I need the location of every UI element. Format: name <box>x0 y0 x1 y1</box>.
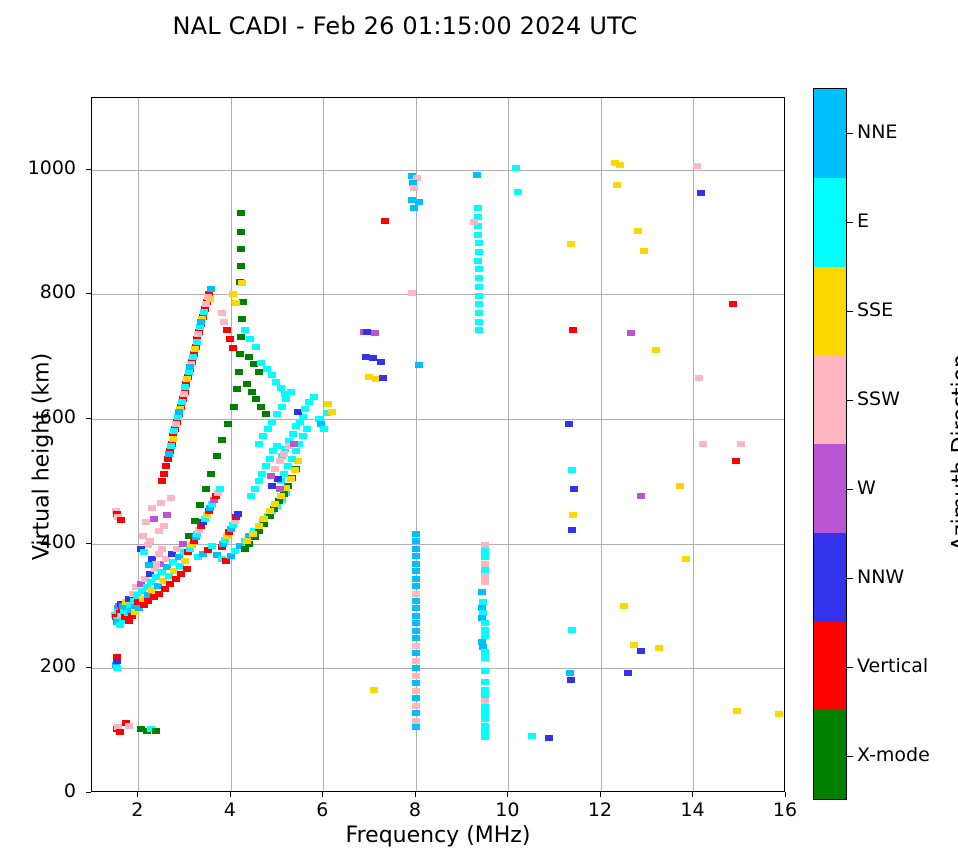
data-point <box>475 301 483 307</box>
data-point <box>262 411 270 417</box>
data-point <box>410 185 418 191</box>
data-point <box>262 463 270 469</box>
data-point <box>229 345 237 351</box>
data-point <box>481 554 489 560</box>
data-point <box>255 478 263 484</box>
data-point <box>627 330 635 336</box>
colorbar-label-w: W <box>857 477 876 499</box>
data-point <box>213 453 221 459</box>
y-axis-tick-label: 1000 <box>0 157 76 179</box>
data-point <box>328 409 336 415</box>
data-point <box>246 336 254 342</box>
data-point <box>178 399 186 405</box>
y-axis-tick <box>86 293 91 294</box>
data-point <box>259 433 267 439</box>
data-point <box>235 369 243 375</box>
data-point <box>412 628 420 634</box>
data-point <box>412 724 420 730</box>
data-point <box>412 605 420 611</box>
data-point <box>481 716 489 722</box>
x-axis-tick-label: 16 <box>755 799 815 821</box>
data-point <box>248 389 256 395</box>
data-point <box>566 670 574 676</box>
data-point <box>481 649 489 655</box>
data-point <box>412 568 420 574</box>
data-point <box>310 394 318 400</box>
data-point <box>140 549 148 555</box>
data-point <box>278 404 286 410</box>
data-point <box>481 573 489 579</box>
data-point <box>202 301 210 307</box>
colorbar-label-vertical: Vertical <box>857 655 928 677</box>
data-point <box>699 441 707 447</box>
data-point <box>479 599 487 605</box>
data-point <box>145 562 153 568</box>
data-point <box>655 645 663 651</box>
data-point <box>412 703 420 709</box>
data-point <box>170 428 178 434</box>
data-point <box>412 650 420 656</box>
data-point <box>233 386 241 392</box>
data-point <box>412 635 420 641</box>
data-point <box>181 558 189 564</box>
data-point <box>569 512 577 518</box>
data-point <box>272 379 280 385</box>
data-point <box>237 263 245 269</box>
data-point <box>475 319 483 325</box>
data-point <box>775 711 783 717</box>
data-point <box>514 189 522 195</box>
data-point <box>693 163 701 169</box>
colorbar-label-ssw: SSW <box>857 388 900 410</box>
data-point <box>697 190 705 196</box>
data-point <box>370 687 378 693</box>
colorbar-tick <box>847 667 853 669</box>
data-point <box>481 704 489 710</box>
x-axis-tick <box>230 792 231 797</box>
data-point <box>481 698 489 704</box>
data-point <box>474 258 482 264</box>
data-point <box>169 436 177 442</box>
data-point <box>732 458 740 464</box>
data-point <box>183 376 191 382</box>
y-axis-tick <box>86 169 91 170</box>
data-point <box>237 210 245 216</box>
colorbar-tick <box>847 133 853 135</box>
data-point <box>412 710 420 716</box>
data-point <box>481 561 489 567</box>
y-axis-tick <box>86 667 91 668</box>
data-point <box>266 456 274 462</box>
data-point <box>264 426 272 432</box>
data-point <box>733 708 741 714</box>
data-point <box>158 546 166 552</box>
data-point <box>197 319 205 325</box>
data-point <box>412 673 420 679</box>
colorbar-tick <box>847 311 853 313</box>
y-axis-title: Virtual height (km) <box>30 277 55 637</box>
data-point <box>475 275 483 281</box>
data-point <box>481 567 489 573</box>
data-point <box>236 351 244 357</box>
data-point <box>268 372 276 378</box>
data-point <box>175 409 183 415</box>
x-axis-tick-label: 2 <box>107 799 167 821</box>
colorbar-segment-nnw <box>814 533 846 622</box>
data-point <box>481 710 489 716</box>
data-point <box>243 538 251 544</box>
data-point <box>226 336 234 342</box>
data-point <box>245 354 253 360</box>
data-point <box>271 466 279 472</box>
data-point <box>183 566 191 572</box>
data-point <box>142 519 150 525</box>
data-point <box>620 603 628 609</box>
data-point <box>113 665 121 671</box>
data-point <box>257 404 265 410</box>
data-point <box>470 219 478 225</box>
data-point <box>474 205 482 211</box>
data-point <box>475 310 483 316</box>
data-point <box>258 471 266 477</box>
data-point <box>274 476 282 482</box>
data-point <box>528 733 536 739</box>
data-point <box>676 483 684 489</box>
colorbar-segment-sse <box>814 267 846 356</box>
data-point <box>481 633 489 639</box>
x-axis-tick-label: 12 <box>570 799 630 821</box>
data-point <box>263 366 271 372</box>
colorbar-title: Azimuth Direction <box>949 243 958 663</box>
data-point <box>475 240 483 246</box>
data-point <box>125 723 133 729</box>
data-point <box>324 401 332 407</box>
data-point <box>180 391 188 397</box>
data-point <box>277 385 285 391</box>
y-axis-tick-label: 0 <box>0 780 76 802</box>
data-point <box>167 443 175 449</box>
data-point <box>412 620 420 626</box>
scatter-data-layer <box>92 98 784 791</box>
x-axis-title: Frequency (MHz) <box>91 823 785 848</box>
data-point <box>481 548 489 554</box>
data-point <box>247 493 255 499</box>
data-point <box>737 441 745 447</box>
data-point <box>237 246 245 252</box>
data-point <box>412 658 420 664</box>
x-axis-tick-label: 8 <box>385 799 445 821</box>
data-point <box>117 517 125 523</box>
y-axis-tick-label: 200 <box>0 655 76 677</box>
data-point <box>481 579 489 585</box>
data-point <box>475 327 483 333</box>
data-point <box>249 531 257 537</box>
data-point <box>218 437 226 443</box>
data-point <box>288 456 296 462</box>
data-point <box>616 162 624 168</box>
colorbar-segment-x-mode <box>814 710 846 799</box>
data-point <box>229 291 237 297</box>
data-point <box>569 327 577 333</box>
data-point <box>208 543 216 549</box>
data-point <box>167 495 175 501</box>
data-point <box>237 334 245 340</box>
data-point <box>299 433 307 439</box>
data-point <box>237 229 245 235</box>
x-axis-tick <box>600 792 601 797</box>
x-axis-tick <box>692 792 693 797</box>
data-point <box>200 309 208 315</box>
data-point <box>475 266 483 272</box>
data-point <box>284 463 292 469</box>
y-axis-tick <box>86 418 91 419</box>
data-point <box>481 723 489 729</box>
data-point <box>377 359 385 365</box>
data-point <box>412 538 420 544</box>
data-point <box>475 284 483 290</box>
data-point <box>273 443 281 449</box>
colorbar-tick <box>847 222 853 224</box>
x-axis-tick <box>507 792 508 797</box>
data-point <box>567 677 575 683</box>
data-point <box>565 421 573 427</box>
data-point <box>148 505 156 511</box>
data-point <box>273 411 281 417</box>
x-axis-tick-label: 14 <box>662 799 722 821</box>
data-point <box>412 561 420 567</box>
data-point <box>637 648 645 654</box>
data-point <box>640 248 648 254</box>
data-point <box>682 556 690 562</box>
data-point <box>512 165 520 171</box>
data-point <box>241 327 249 333</box>
data-point <box>303 426 311 432</box>
data-point <box>276 458 284 464</box>
data-point <box>481 620 489 626</box>
data-point <box>412 591 420 597</box>
data-point <box>113 654 121 660</box>
data-point <box>290 441 298 447</box>
data-point <box>412 613 420 619</box>
data-point <box>238 280 246 286</box>
data-point <box>157 500 165 506</box>
data-point <box>320 426 328 432</box>
data-point <box>116 729 124 735</box>
data-point <box>652 347 660 353</box>
data-point <box>412 583 420 589</box>
data-point <box>230 404 238 410</box>
data-point <box>207 471 215 477</box>
data-point <box>252 344 260 350</box>
data-point <box>160 471 168 477</box>
x-axis-tick <box>137 792 138 797</box>
colorbar-segment-ssw <box>814 355 846 444</box>
x-axis-tick <box>322 792 323 797</box>
data-point <box>160 523 168 529</box>
colorbar-label-nne: NNE <box>857 121 897 143</box>
data-point <box>624 670 632 676</box>
data-point <box>181 384 189 390</box>
data-point <box>412 598 420 604</box>
data-point <box>412 695 420 701</box>
data-point <box>277 493 285 499</box>
x-axis-tick-label: 10 <box>477 799 537 821</box>
data-point <box>271 501 279 507</box>
data-point <box>196 502 204 508</box>
colorbar-label-nnw: NNW <box>857 566 904 588</box>
x-axis-tick <box>415 792 416 797</box>
data-point <box>412 680 420 686</box>
data-point <box>481 655 489 661</box>
data-point <box>146 538 154 544</box>
data-point <box>473 172 481 178</box>
data-point <box>163 512 171 518</box>
data-point <box>415 362 423 368</box>
data-point <box>412 665 420 671</box>
data-point <box>412 688 420 694</box>
data-point <box>478 589 486 595</box>
data-point <box>204 294 212 300</box>
data-point <box>408 290 416 296</box>
data-point <box>570 486 578 492</box>
data-point <box>481 679 489 685</box>
data-point <box>474 232 482 238</box>
data-point <box>729 301 737 307</box>
data-point <box>379 375 387 381</box>
data-point <box>545 735 553 741</box>
data-point <box>475 293 483 299</box>
data-point <box>216 486 224 492</box>
data-point <box>613 182 621 188</box>
data-point <box>255 441 263 447</box>
data-point <box>255 523 263 529</box>
colorbar-label-x-mode: X-mode <box>857 744 930 766</box>
data-point <box>202 486 210 492</box>
data-point <box>568 467 576 473</box>
data-point <box>220 319 228 325</box>
data-point <box>223 327 231 333</box>
data-point <box>186 364 194 370</box>
data-point <box>207 286 215 292</box>
data-point <box>381 218 389 224</box>
data-point <box>158 478 166 484</box>
data-point <box>412 553 420 559</box>
data-point <box>234 511 242 517</box>
colorbar-tick <box>847 578 853 580</box>
data-point <box>252 396 260 402</box>
data-point <box>267 473 275 479</box>
data-point <box>194 331 202 337</box>
data-point <box>481 668 489 674</box>
data-point <box>371 330 379 336</box>
data-point <box>412 576 420 582</box>
data-point <box>567 241 575 247</box>
data-point <box>695 375 703 381</box>
data-point <box>232 300 240 306</box>
colorbar-tick <box>847 489 853 491</box>
colorbar <box>813 88 847 800</box>
data-point <box>412 643 420 649</box>
data-point <box>152 728 160 734</box>
data-point <box>276 486 284 492</box>
colorbar-segment-vertical <box>814 622 846 711</box>
data-point <box>415 199 423 205</box>
data-point <box>193 339 201 345</box>
data-point <box>412 718 420 724</box>
data-point <box>630 642 638 648</box>
data-point <box>568 627 576 633</box>
colorbar-segment-e <box>814 178 846 267</box>
data-point <box>238 316 246 322</box>
data-point <box>481 734 489 740</box>
data-point <box>257 360 265 366</box>
data-point <box>363 329 371 335</box>
data-point <box>301 406 309 412</box>
data-point <box>172 421 180 427</box>
data-point <box>266 508 274 514</box>
colorbar-segment-nne <box>814 89 846 178</box>
plot-area <box>91 97 785 792</box>
data-point <box>260 516 268 522</box>
data-point <box>412 531 420 537</box>
colorbar-tick <box>847 756 853 758</box>
data-point <box>412 546 420 552</box>
data-point <box>568 527 576 533</box>
data-point <box>251 486 259 492</box>
data-point <box>410 205 418 211</box>
data-point <box>191 346 199 352</box>
y-axis-tick <box>86 543 91 544</box>
data-point <box>218 310 226 316</box>
data-point <box>243 381 251 387</box>
colorbar-label-e: E <box>857 210 869 232</box>
data-point <box>268 419 276 425</box>
data-point <box>280 451 288 457</box>
data-point <box>162 463 170 469</box>
data-point <box>481 627 489 633</box>
data-point <box>481 542 489 548</box>
data-point <box>481 687 489 693</box>
page-title: NAL CADI - Feb 26 01:15:00 2024 UTC <box>0 12 810 40</box>
x-axis-tick-label: 4 <box>200 799 260 821</box>
y-axis-tick <box>86 792 91 793</box>
data-point <box>224 421 232 427</box>
data-point <box>165 451 173 457</box>
colorbar-label-sse: SSE <box>857 299 893 321</box>
data-point <box>289 431 297 437</box>
x-axis-tick <box>785 792 786 797</box>
data-point <box>150 516 158 522</box>
data-point <box>634 228 642 234</box>
x-axis-tick-label: 6 <box>292 799 352 821</box>
data-point <box>475 249 483 255</box>
data-point <box>637 493 645 499</box>
data-point <box>281 391 289 397</box>
colorbar-tick <box>847 400 853 402</box>
colorbar-segment-w <box>814 444 846 533</box>
data-point <box>139 533 147 539</box>
data-point <box>189 354 197 360</box>
